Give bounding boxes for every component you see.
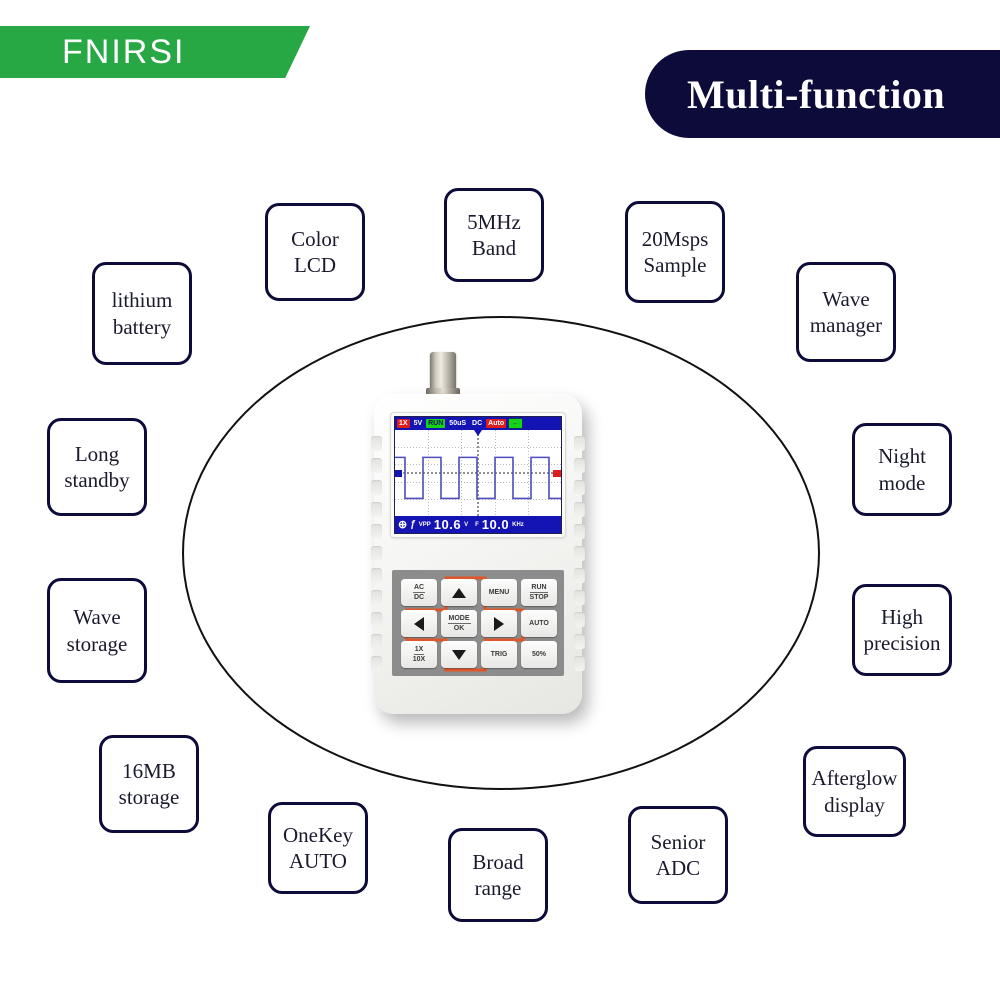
- key-label-bottom: OK: [454, 624, 465, 632]
- feature-box-lithium-battery: lithiumbattery: [92, 262, 192, 365]
- side-grip: [574, 634, 585, 649]
- key-label-bottom: STOP: [530, 593, 549, 601]
- side-grip: [574, 524, 585, 539]
- probe-1x-10x-key[interactable]: 1X10X: [401, 641, 437, 668]
- probe-ratio-badge[interactable]: 1X: [397, 419, 410, 428]
- feature-label-line: OneKey: [283, 822, 353, 848]
- trig-key[interactable]: TRIG: [481, 641, 517, 668]
- side-grip: [371, 458, 382, 473]
- key-label: 50%: [532, 651, 546, 658]
- feature-box-night-mode: Nightmode: [852, 423, 952, 516]
- feature-label-line: ADC: [656, 855, 700, 881]
- trigger-mode-badge[interactable]: Auto: [486, 419, 506, 428]
- side-grip: [574, 480, 585, 495]
- feature-label-line: manager: [810, 312, 882, 338]
- right-key[interactable]: [481, 610, 517, 637]
- handheld-oscilloscope: 1X 5V RUN 50uS DC Auto ←: [362, 352, 612, 724]
- run-stop-key[interactable]: RUNSTOP: [521, 579, 557, 606]
- key-label-top: MODE: [448, 615, 471, 624]
- run-state-badge[interactable]: RUN: [426, 419, 445, 428]
- feature-label-line: lithium: [112, 287, 173, 313]
- waveform-plot-area[interactable]: [395, 430, 561, 516]
- side-grip: [371, 634, 382, 649]
- cursor-icon: ⊕: [398, 518, 407, 531]
- arrow-right-icon: [494, 617, 504, 631]
- side-grip: [371, 480, 382, 495]
- side-grip: [371, 568, 382, 583]
- side-grip: [574, 458, 585, 473]
- feature-box-senior-adc: SeniorADC: [628, 806, 728, 904]
- infographic-page: FNIRSI Multi-function lithiumbatteryColo…: [0, 0, 1000, 1000]
- feature-label-line: storage: [67, 631, 128, 657]
- side-grip: [574, 612, 585, 627]
- coupling-value[interactable]: DC: [470, 419, 484, 428]
- key-label: MENU: [489, 589, 510, 596]
- waveform-trace: [395, 430, 561, 516]
- feature-label-line: range: [475, 875, 522, 901]
- side-grip: [574, 436, 585, 451]
- frequency-icon: ƒ: [410, 519, 416, 530]
- feature-box-wave-manager: Wavemanager: [796, 262, 896, 362]
- up-key[interactable]: [441, 579, 477, 606]
- device-body: 1X 5V RUN 50uS DC Auto ←: [374, 394, 582, 714]
- vpp-value: 10.6: [434, 517, 461, 532]
- side-grip: [371, 502, 382, 517]
- feature-box-long-standby: Longstandby: [47, 418, 147, 516]
- page-title: Multi-function: [687, 71, 945, 118]
- side-grip: [574, 502, 585, 517]
- arrow-down-icon: [452, 650, 466, 660]
- feature-label-line: battery: [113, 314, 171, 340]
- menu-key[interactable]: MENU: [481, 579, 517, 606]
- feature-label-line: 20Msps: [642, 226, 709, 252]
- brand-logo-text: FNIRSI: [62, 33, 185, 72]
- feature-box-broad-range: Broadrange: [448, 828, 548, 922]
- feature-label-line: Wave: [822, 286, 869, 312]
- screen-bezel: 1X 5V RUN 50uS DC Auto ←: [390, 412, 566, 538]
- side-grip: [574, 546, 585, 561]
- battery-icon: ←: [508, 418, 523, 429]
- freq-label: F: [475, 522, 479, 528]
- feature-label-line: 16MB: [122, 758, 176, 784]
- feature-label-line: AUTO: [289, 848, 347, 874]
- mode-ok-key[interactable]: MODEOK: [441, 610, 477, 637]
- feature-label-line: Long: [75, 441, 119, 467]
- feature-label-line: Sample: [644, 252, 707, 278]
- feature-label-line: storage: [119, 784, 180, 810]
- key-grid: ACDCMENURUNSTOPMODEOKAUTO1X10XTRIG50%: [401, 579, 557, 668]
- side-grip: [574, 656, 585, 671]
- feature-label-line: Broad: [472, 849, 523, 875]
- oscilloscope-screen[interactable]: 1X 5V RUN 50uS DC Auto ←: [394, 416, 562, 534]
- brand-banner: FNIRSI: [0, 26, 310, 78]
- key-label: TRIG: [491, 651, 508, 658]
- feature-box-high-precision: Highprecision: [852, 584, 952, 676]
- feature-label-line: Band: [472, 235, 516, 261]
- feature-label-line: Wave: [73, 604, 120, 630]
- time-div-value[interactable]: 50uS: [447, 419, 468, 428]
- feature-label-line: precision: [864, 630, 941, 656]
- key-label-top: RUN: [530, 584, 547, 593]
- feature-label-line: mode: [879, 470, 926, 496]
- feature-box-wave-storage: Wavestorage: [47, 578, 147, 683]
- feature-label-line: Color: [291, 226, 339, 252]
- arrow-left-icon: [414, 617, 424, 631]
- feature-label-line: Senior: [651, 829, 706, 855]
- auto-key[interactable]: AUTO: [521, 610, 557, 637]
- vpp-unit: V: [464, 522, 468, 528]
- feature-box-5mhz-band: 5MHzBand: [444, 188, 544, 282]
- left-key[interactable]: [401, 610, 437, 637]
- side-grip: [574, 590, 585, 605]
- freq-unit: KHz: [512, 522, 524, 528]
- feature-box-color-lcd: ColorLCD: [265, 203, 365, 301]
- scope-status-bar: 1X 5V RUN 50uS DC Auto ←: [395, 417, 561, 430]
- side-grip: [574, 568, 585, 583]
- feature-label-line: Night: [878, 443, 926, 469]
- key-label-top: AC: [413, 584, 425, 593]
- title-banner: Multi-function: [645, 50, 1000, 138]
- ac-dc-key[interactable]: ACDC: [401, 579, 437, 606]
- keypad-panel: ACDCMENURUNSTOPMODEOKAUTO1X10XTRIG50%: [392, 570, 564, 676]
- side-grip: [371, 524, 382, 539]
- scope-measurement-bar: ⊕ ƒ VPP 10.6 V F 10.0 KHz: [395, 516, 561, 533]
- feature-label-line: display: [824, 792, 885, 818]
- side-grip: [371, 436, 382, 451]
- feature-label-line: High: [881, 604, 923, 630]
- volts-div-value[interactable]: 5V: [412, 419, 425, 428]
- feature-label-line: standby: [64, 467, 129, 493]
- feature-label-line: 5MHz: [467, 209, 521, 235]
- key-label-bottom: 10X: [413, 655, 425, 663]
- vpp-label: VPP: [419, 522, 431, 528]
- key-label-bottom: DC: [414, 593, 424, 601]
- fifty-percent-key[interactable]: 50%: [521, 641, 557, 668]
- feature-label-line: Afterglow: [812, 765, 898, 791]
- key-label: AUTO: [529, 620, 549, 627]
- side-grip: [371, 612, 382, 627]
- freq-value: 10.0: [482, 517, 509, 532]
- feature-label-line: LCD: [294, 252, 336, 278]
- feature-box-20msps-sample: 20MspsSample: [625, 201, 725, 303]
- down-key[interactable]: [441, 641, 477, 668]
- side-grip: [371, 590, 382, 605]
- feature-box-16mb-storage: 16MBstorage: [99, 735, 199, 833]
- key-label-top: 1X: [414, 646, 425, 655]
- feature-box-afterglow-display: Afterglowdisplay: [803, 746, 906, 837]
- side-grip: [371, 546, 382, 561]
- side-grip: [371, 656, 382, 671]
- arrow-up-icon: [452, 588, 466, 598]
- feature-box-onekey-auto: OneKeyAUTO: [268, 802, 368, 894]
